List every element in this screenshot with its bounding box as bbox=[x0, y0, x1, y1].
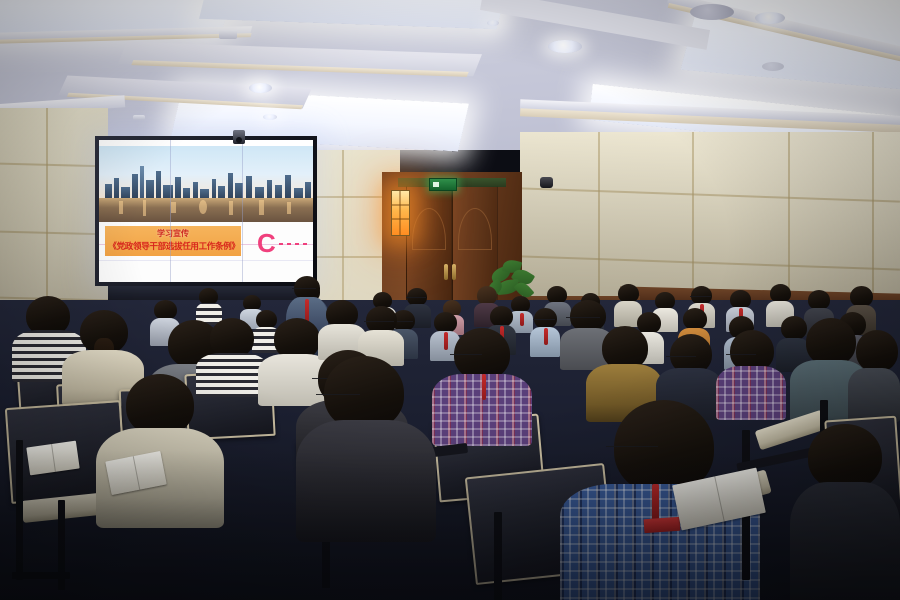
downlight-icon bbox=[249, 83, 272, 93]
slide-title-line-1: 学习宣传 bbox=[105, 227, 241, 240]
slide-title-line-2: 《党政领导干部选拔任用工作条例》 bbox=[101, 240, 247, 254]
chair-leg bbox=[16, 440, 23, 580]
audience-member bbox=[530, 308, 560, 352]
exit-sign bbox=[429, 178, 457, 191]
presentation-screen[interactable]: 学习宣传 《党政领导干部选拔任用工作条例》 C bbox=[99, 140, 313, 282]
wall-panel-left bbox=[0, 108, 108, 328]
slide-dotted-rule bbox=[279, 243, 309, 245]
audience-member bbox=[432, 328, 532, 438]
conference-badge bbox=[644, 517, 681, 533]
ceiling-speaker bbox=[690, 4, 734, 20]
wall-sconce-lamp bbox=[391, 190, 410, 236]
chair-leg bbox=[12, 572, 70, 579]
ceiling-speaker bbox=[762, 62, 784, 71]
audience-member bbox=[96, 374, 224, 520]
audience-member bbox=[790, 424, 900, 600]
wall-shading bbox=[0, 108, 108, 328]
ceiling-light-panel-center bbox=[199, 0, 511, 29]
smoke-detector-icon bbox=[133, 115, 145, 120]
ceiling-camera-icon bbox=[233, 130, 245, 144]
screen-waterfront bbox=[99, 198, 313, 222]
audience-member bbox=[196, 288, 222, 322]
door-handle[interactable] bbox=[452, 264, 456, 280]
ceiling bbox=[0, 0, 900, 150]
audience-member bbox=[848, 330, 900, 414]
downlight-icon bbox=[487, 20, 499, 26]
audience-member bbox=[296, 356, 436, 536]
door-handle[interactable] bbox=[444, 264, 448, 280]
smoke-detector-icon bbox=[219, 30, 237, 39]
chair-leg bbox=[494, 512, 502, 600]
conference-room-photo: 学习宣传 《党政领导干部选拔任用工作条例》 C bbox=[0, 0, 900, 600]
wall-camera-icon bbox=[540, 177, 553, 188]
screen-skyline bbox=[99, 160, 313, 200]
downlight-icon bbox=[263, 114, 277, 120]
panel-seam bbox=[342, 150, 344, 310]
slide-logo-letter: C bbox=[257, 230, 276, 256]
downlight-icon bbox=[548, 40, 582, 53]
downlight-icon bbox=[755, 12, 785, 24]
panel-seam bbox=[170, 140, 171, 282]
panel-seam bbox=[242, 140, 243, 282]
